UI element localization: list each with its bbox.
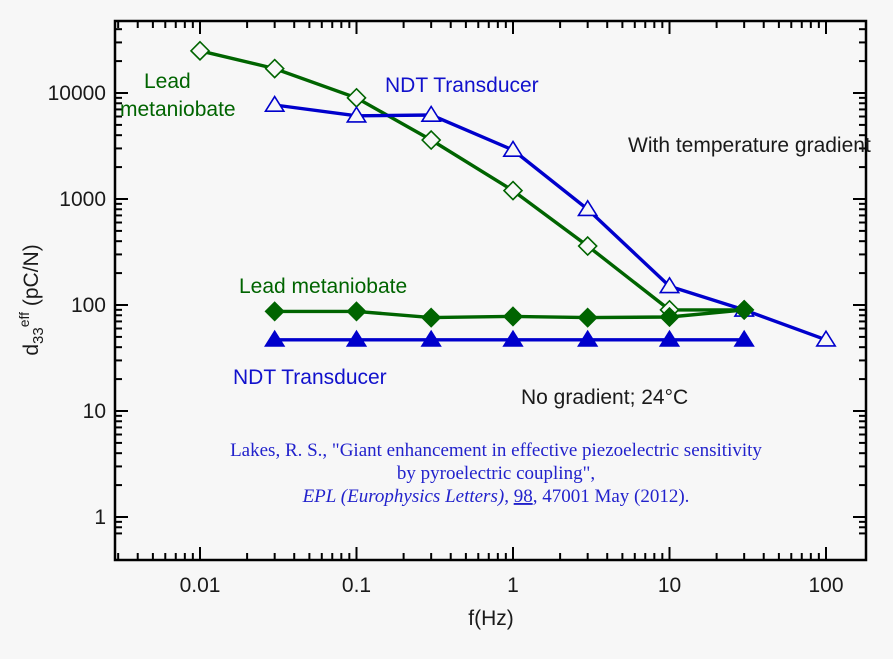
y-axis-title-sub: 33: [30, 327, 47, 344]
citation-rest: , 47001 May (2012).: [533, 486, 690, 507]
citation-volume: 98: [514, 486, 533, 507]
annotation-lead-metaniobate-bottom: Lead metaniobate: [239, 275, 407, 298]
chart-svg: 0.010.1110100 100001000100101 f(Hz) d33e…: [0, 0, 893, 659]
annotation-no-gradient: No gradient; 24°C: [521, 386, 688, 409]
citation-line-1: Lakes, R. S., "Giant enhancement in effe…: [230, 440, 762, 461]
x-tick-label: 100: [808, 574, 843, 597]
y-tick-label: 10000: [48, 82, 106, 105]
y-tick-label: 100: [71, 294, 106, 317]
x-axis-title: f(Hz): [468, 607, 514, 630]
y-axis-title-sup: eff: [16, 312, 32, 327]
y-tick-label: 10: [83, 400, 106, 423]
y-tick-label: 1: [94, 506, 106, 529]
annotation-ndt-transducer-bottom: NDT Transducer: [233, 366, 387, 389]
y-tick-label: 1000: [59, 188, 106, 211]
x-tick-label: 1: [507, 574, 519, 597]
chart-figure: 0.010.1110100 100001000100101 f(Hz) d33e…: [0, 0, 893, 659]
annotation-lead-metaniobate-top-line1: Lead: [144, 70, 191, 93]
annotation-ndt-transducer-top: NDT Transducer: [385, 74, 539, 97]
citation-line-3: EPL (Europhysics Letters), 98, 47001 May…: [302, 486, 690, 507]
citation-comma: ,: [504, 486, 514, 507]
annotation-lead-metaniobate-top-line2: metaniobate: [120, 98, 236, 121]
x-tick-label: 0.1: [342, 574, 371, 597]
x-tick-label: 0.01: [180, 574, 221, 597]
y-axis-title-unit: (pC/N): [20, 244, 43, 312]
annotation-with-temperature-gradient: With temperature gradient: [628, 134, 871, 157]
y-axis-title-main: d: [20, 344, 43, 356]
citation-journal: EPL (Europhysics Letters): [302, 486, 505, 507]
x-tick-label: 10: [658, 574, 681, 597]
citation-line-2: by pyroelectric coupling",: [397, 463, 595, 484]
